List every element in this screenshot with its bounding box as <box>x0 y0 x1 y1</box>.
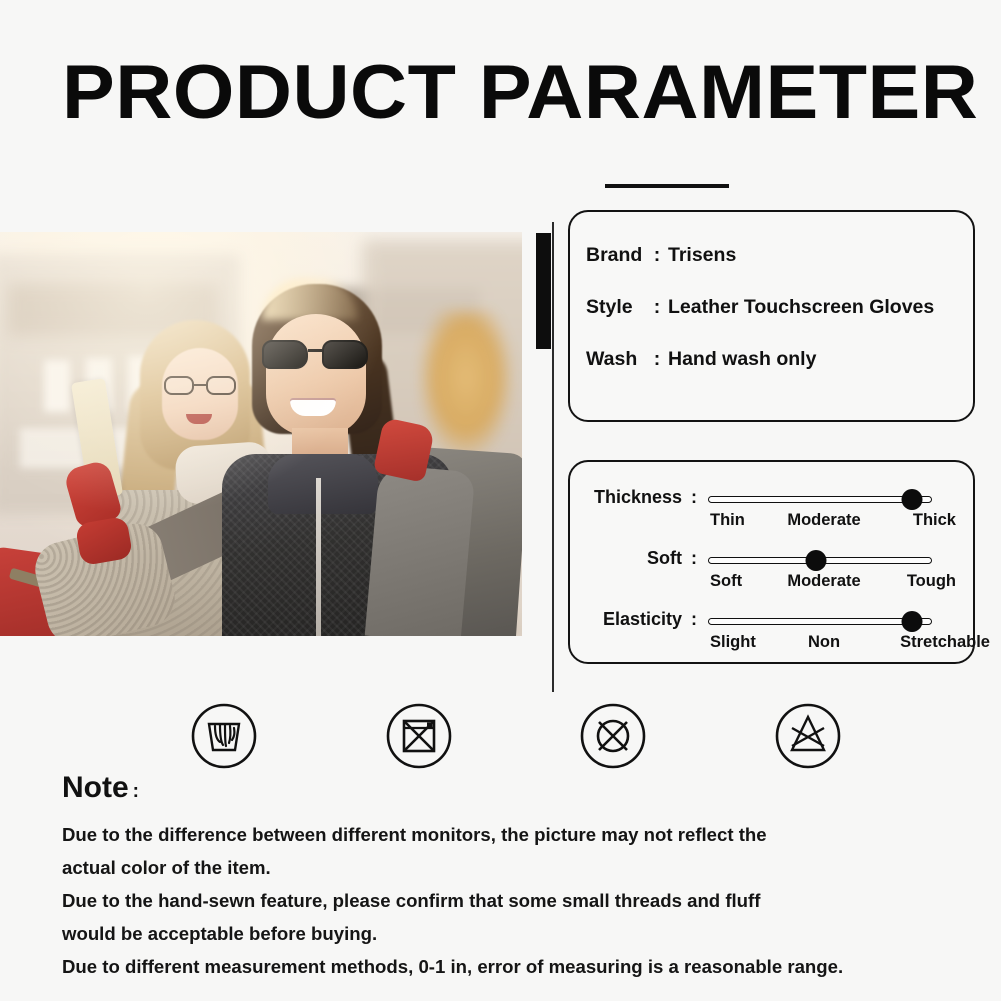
do-not-tumble-dry-icon <box>385 702 453 770</box>
scale-tough: Tough <box>907 572 956 591</box>
note-line: actual color of the item. <box>62 851 967 884</box>
slider-soft[interactable] <box>708 549 932 571</box>
vertical-rail <box>552 222 554 692</box>
info-row-style: Style : Leather Touchscreen Gloves <box>586 296 963 319</box>
photo-woman2-arm <box>365 464 476 636</box>
info-label-wash: Wash <box>586 348 646 371</box>
slider-knob-thickness[interactable] <box>901 489 922 510</box>
info-colon-wash: : <box>646 348 668 371</box>
spec-row-elasticity: Elasticity : Slight Non Stretchable <box>582 608 965 655</box>
note-heading-colon: : <box>129 781 139 802</box>
spec-row-thickness: Thickness : Thin Moderate Thick <box>582 486 965 533</box>
photo-woman2-collar <box>268 454 378 514</box>
slider-knob-elasticity[interactable] <box>901 611 922 632</box>
spec-label-soft: Soft <box>582 547 686 569</box>
info-label-style: Style <box>586 296 646 319</box>
photo-autumn-tree <box>418 310 514 460</box>
spec-row-soft: Soft : Soft Moderate Tough <box>582 547 965 594</box>
slider-scale-soft: Soft Moderate Tough <box>708 572 940 594</box>
slider-thickness[interactable] <box>708 488 932 510</box>
info-value-brand: Trisens <box>668 244 736 267</box>
note-line: Due to different measurement methods, 0-… <box>62 950 967 983</box>
product-spec-card: Thickness : Thin Moderate Thick Soft <box>568 460 975 664</box>
page-title: PRODUCT PARAMETER <box>62 52 988 134</box>
info-colon-style: : <box>646 296 668 319</box>
spec-colon-thickness: : <box>686 486 702 508</box>
note-line: Due to the difference between different … <box>62 818 967 851</box>
scale-non: Non <box>808 633 840 652</box>
slider-track-thickness <box>708 496 932 503</box>
photo-woman2-smile <box>290 398 336 416</box>
accent-bar <box>536 233 551 349</box>
note-heading: Note: <box>62 771 139 805</box>
photo-window <box>44 360 70 412</box>
info-colon-brand: : <box>646 244 668 267</box>
slider-track-elasticity <box>708 618 932 625</box>
info-row-brand: Brand : Trisens <box>586 244 963 267</box>
do-not-bleach-icon <box>774 702 842 770</box>
do-not-dry-clean-icon <box>579 702 647 770</box>
note-line: would be acceptable before buying. <box>62 917 967 950</box>
info-value-wash: Hand wash only <box>668 348 816 371</box>
product-spec-list: Thickness : Thin Moderate Thick Soft <box>582 486 965 655</box>
slider-knob-soft[interactable] <box>805 550 826 571</box>
spec-colon-elasticity: : <box>686 608 702 630</box>
note-heading-text: Note <box>62 771 129 804</box>
scale-stretchable: Stretchable <box>900 633 990 652</box>
photo-woman1-eyeglasses <box>164 376 236 396</box>
product-info-card: Brand : Trisens Style : Leather Touchscr… <box>568 210 975 422</box>
spec-colon-soft: : <box>686 547 702 569</box>
product-parameter-page: PRODUCT PARAMETER <box>0 0 1001 1001</box>
photo-woman2-zipper <box>316 478 321 636</box>
photo-woman2-face <box>266 314 366 436</box>
care-instruction-icons <box>0 702 1001 788</box>
info-label-brand: Brand <box>586 244 646 267</box>
hand-wash-icon <box>190 702 258 770</box>
scale-slight: Slight <box>710 633 756 652</box>
spec-label-thickness: Thickness <box>582 486 686 508</box>
slider-scale-elasticity: Slight Non Stretchable <box>708 633 940 655</box>
scale-moderate: Moderate <box>787 511 860 530</box>
spec-label-elasticity: Elasticity <box>582 608 686 630</box>
product-info-list: Brand : Trisens Style : Leather Touchscr… <box>586 244 963 371</box>
slider-elasticity[interactable] <box>708 610 932 632</box>
slider-scale-thickness: Thin Moderate Thick <box>708 511 940 533</box>
title-divider <box>605 184 729 188</box>
scale-thick: Thick <box>913 511 956 530</box>
scale-thin: Thin <box>710 511 745 530</box>
note-body: Due to the difference between different … <box>62 818 967 983</box>
info-row-wash: Wash : Hand wash only <box>586 348 963 371</box>
info-value-style: Leather Touchscreen Gloves <box>668 296 934 319</box>
product-lifestyle-photo <box>0 232 522 636</box>
scale-moderate: Moderate <box>787 572 860 591</box>
scale-soft: Soft <box>710 572 742 591</box>
photo-woman2-sunglasses <box>262 340 368 370</box>
note-line: Due to the hand-sewn feature, please con… <box>62 884 967 917</box>
